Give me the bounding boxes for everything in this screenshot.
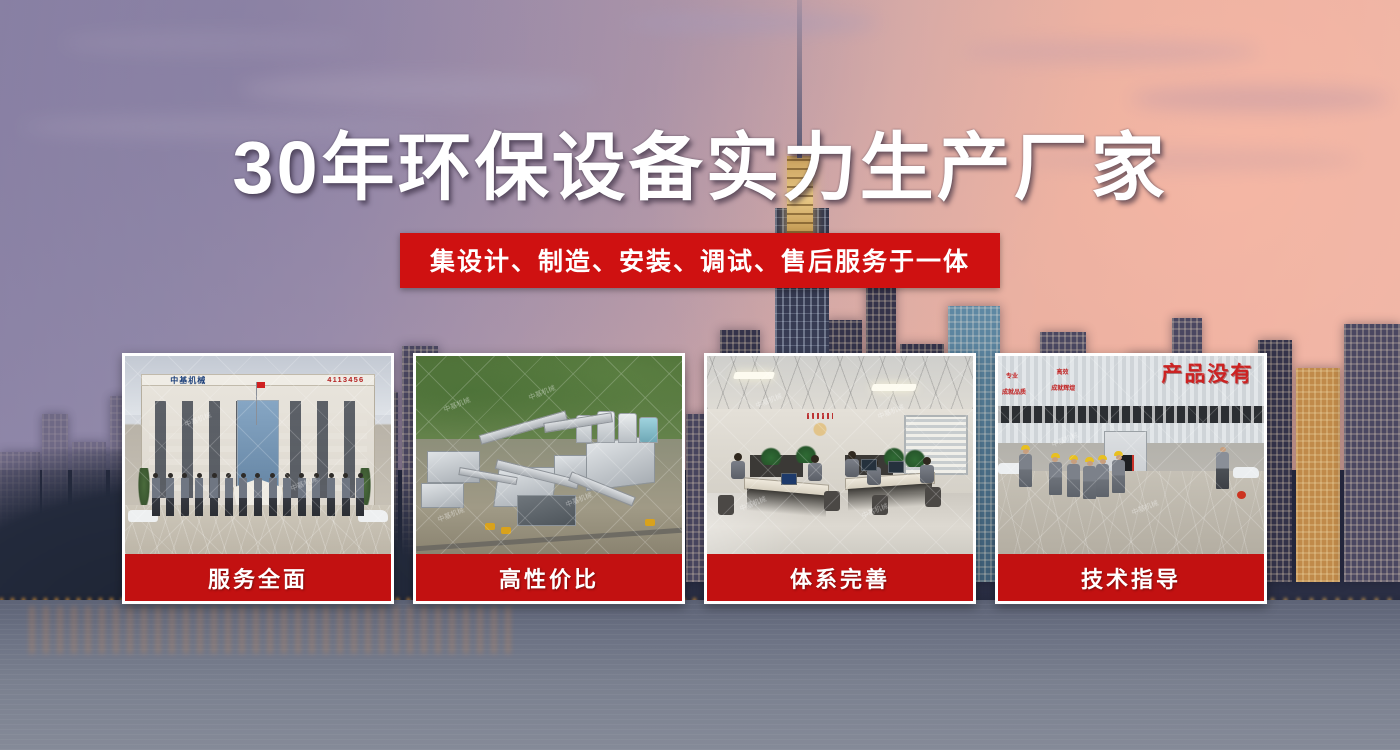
factory-sign-text: 产品没有 bbox=[1161, 358, 1253, 388]
subtitle-container: 集设计、制造、安装、调试、售后服务于一体 bbox=[0, 233, 1400, 288]
factory-slogan: 成就品质 bbox=[1002, 390, 1026, 398]
cloud bbox=[240, 74, 600, 104]
card-label: 体系完善 bbox=[707, 554, 973, 601]
feature-card[interactable]: 中基机械 中基机械 中基机械 中基机械 高性价比 bbox=[413, 353, 685, 604]
building-phone-text: 4113456 bbox=[327, 375, 364, 384]
feature-card[interactable]: 中基机械 中基机械 中基机械 中基机械 体系完善 bbox=[704, 353, 976, 604]
river-reflections bbox=[30, 606, 510, 654]
card-label: 服务全面 bbox=[125, 554, 391, 601]
subtitle-banner: 集设计、制造、安装、调试、售后服务于一体 bbox=[400, 233, 1000, 288]
card-label: 高性价比 bbox=[416, 554, 682, 601]
cloud bbox=[620, 14, 880, 32]
card-photo-office-building: 中基机械 4113456 中基机械 bbox=[125, 356, 391, 554]
cloud bbox=[1130, 86, 1390, 112]
banner-stage: 30年环保设备实力生产厂家 集设计、制造、安装、调试、售后服务于一体 中基机械 … bbox=[0, 0, 1400, 750]
cloud bbox=[60, 30, 360, 56]
staff-row bbox=[152, 473, 365, 517]
card-label: 技术指导 bbox=[998, 554, 1264, 601]
factory-slogan: 成就辉煌 bbox=[1051, 386, 1075, 394]
card-photo-office-interior: 中基机械 中基机械 中基机械 中基机械 bbox=[707, 356, 973, 554]
feature-card[interactable]: 中基机械 4113456 中基机械 bbox=[122, 353, 394, 604]
card-photo-industrial-plant: 中基机械 中基机械 中基机械 中基机械 bbox=[416, 356, 682, 554]
card-photo-factory-workers: 产品没有 专业 成就品质 高效 成就辉煌 bbox=[998, 356, 1264, 554]
feature-card[interactable]: 产品没有 专业 成就品质 高效 成就辉煌 bbox=[995, 353, 1267, 604]
page-title: 30年环保设备实力生产厂家 bbox=[0, 131, 1400, 205]
cloud bbox=[960, 40, 1260, 64]
building-sign-text: 中基机械 bbox=[170, 375, 206, 386]
factory-slogan: 专业 bbox=[1006, 374, 1018, 382]
factory-slogan: 高效 bbox=[1057, 370, 1069, 378]
feature-card-list: 中基机械 4113456 中基机械 bbox=[122, 353, 1278, 604]
